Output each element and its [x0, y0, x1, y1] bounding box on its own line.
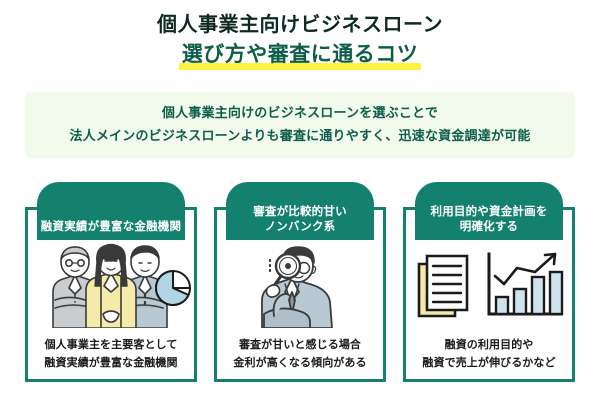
pie-chart-glyph — [156, 271, 190, 305]
card-banner — [415, 182, 563, 240]
page-title: 個人事業主向けビジネスローン 選び方や審査に通るコツ — [0, 12, 600, 70]
card-caption: 審査が甘いと感じる場合 金利が高くなる傾向がある — [217, 330, 383, 379]
card-financial-institution: 融資実績が豊富な金融機関 — [25, 182, 197, 382]
title-line-2-highlighted: 選び方や審査に通るコツ — [179, 41, 422, 70]
card-caption-line-1: 個人事業主を主要客として — [45, 337, 178, 354]
card-caption: 融資の利用目的や 融資で売上が伸びるかなど — [406, 330, 572, 379]
card-caption-line-1: 審査が甘いと感じる場合 — [239, 337, 361, 354]
card-banner — [226, 182, 374, 240]
card-caption: 個人事業主を主要客として 融資実績が豊富な金融機関 — [28, 330, 194, 379]
lead-line-1: 個人事業主向けのビジネスローンを選ぶことで — [162, 102, 438, 125]
man-with-magnifying-glass-icon — [217, 240, 383, 330]
three-business-people-with-pie-chart-icon — [28, 240, 194, 330]
bar-chart-glyph — [489, 254, 562, 314]
lead-line-2: 法人メインのビジネスローンよりも審査に通りやすく、迅速な資金調達が可能 — [69, 125, 530, 148]
infographic-root: 個人事業主向けビジネスローン 選び方や審査に通るコツ 個人事業主向けのビジネスロ… — [0, 0, 600, 400]
title-line-2-wrapper: 選び方や審査に通るコツ — [0, 41, 600, 70]
card-caption-line-1: 融資の利用目的や — [445, 337, 534, 354]
card-purpose-clarification: 利用目的や資金計画を 明確化する — [403, 182, 575, 382]
card-caption-line-2: 融資実績が豊富な金融機関 — [44, 355, 177, 372]
lead-summary-panel: 個人事業主向けのビジネスローンを選ぶことで 法人メインのビジネスローンよりも審査… — [25, 92, 575, 158]
documents-and-growth-bar-chart-icon — [406, 240, 572, 330]
documents-glyph — [419, 256, 467, 316]
title-line-1: 個人事業主向けビジネスローン — [0, 12, 600, 39]
card-caption-line-2: 融資で売上が伸びるかなど — [422, 355, 555, 372]
card-nonbank: 審査が比較的甘い ノンバンク系 — [214, 182, 386, 382]
card-caption-line-2: 金利が高くなる傾向がある — [233, 355, 366, 372]
card-banner — [37, 182, 185, 240]
card-list: 融資実績が豊富な金融機関 — [25, 182, 575, 382]
